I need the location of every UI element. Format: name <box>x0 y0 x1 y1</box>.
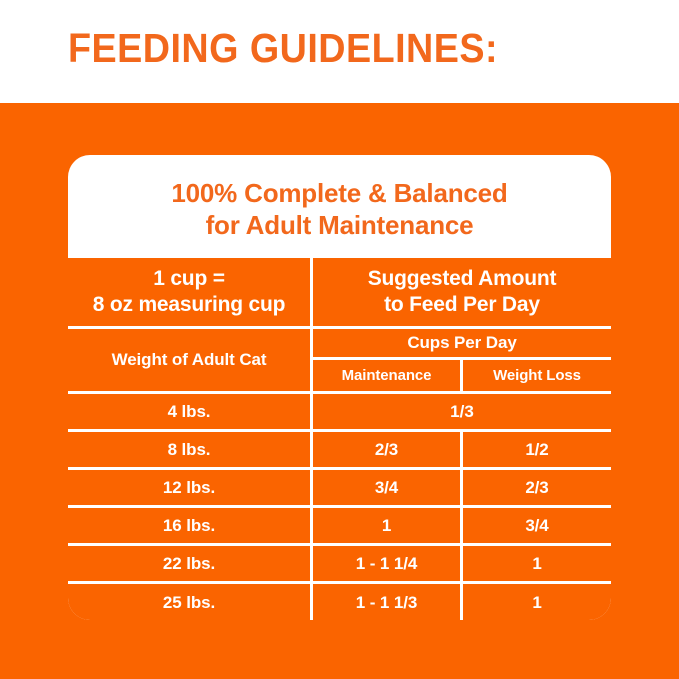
cell-weight-loss: 2/3 <box>463 470 611 508</box>
cell-weight-loss: 3/4 <box>463 508 611 546</box>
cell-maintenance: 3/4 <box>313 470 463 508</box>
cell-weight: 8 lbs. <box>68 432 313 470</box>
table-row: 25 lbs. 1 - 1 1/3 1 <box>68 584 611 620</box>
table-row: 16 lbs. 1 3/4 <box>68 508 611 546</box>
cell-weight: 22 lbs. <box>68 546 313 584</box>
cell-weight-loss: 1 <box>463 546 611 584</box>
page-title: FEEDING GUIDELINES: <box>68 24 498 72</box>
card-heading-line-2: for Adult Maintenance <box>86 209 593 241</box>
feeding-guidelines-page: FEEDING GUIDELINES: 100% Complete & Bala… <box>0 0 679 679</box>
feeding-card: 100% Complete & Balanced for Adult Maint… <box>68 155 611 620</box>
cup-definition-line-2: 8 oz measuring cup <box>74 292 304 318</box>
cell-maintenance: 1 - 1 1/4 <box>313 546 463 584</box>
cup-definition-cell: 1 cup = 8 oz measuring cup <box>68 258 313 329</box>
cell-weight: 16 lbs. <box>68 508 313 546</box>
feeding-table: 1 cup = 8 oz measuring cup Suggested Amo… <box>68 258 611 620</box>
card-heading: 100% Complete & Balanced for Adult Maint… <box>68 155 611 257</box>
table-row: 4 lbs. 1/3 <box>68 394 611 432</box>
suggested-amount-line-2: to Feed Per Day <box>319 292 605 318</box>
top-banner: FEEDING GUIDELINES: <box>0 0 679 103</box>
cup-definition-line-1: 1 cup = <box>74 266 304 292</box>
cell-weight: 12 lbs. <box>68 470 313 508</box>
cell-maintenance: 2/3 <box>313 432 463 470</box>
suggested-amount-cell: Suggested Amount to Feed Per Day <box>313 258 611 329</box>
cell-weight: 4 lbs. <box>68 394 313 432</box>
table-row-band: 1 cup = 8 oz measuring cup Suggested Amo… <box>68 258 611 329</box>
header-maintenance: Maintenance <box>313 360 463 394</box>
suggested-amount-line-1: Suggested Amount <box>319 266 605 292</box>
table-row: 22 lbs. 1 - 1 1/4 1 <box>68 546 611 584</box>
cell-maintenance: 1 <box>313 508 463 546</box>
card-heading-line-1: 100% Complete & Balanced <box>86 177 593 209</box>
cell-maintenance: 1 - 1 1/3 <box>313 584 463 620</box>
header-cups-per-day: Cups Per Day <box>313 329 611 360</box>
table-row: 8 lbs. 2/3 1/2 <box>68 432 611 470</box>
table-row: 12 lbs. 3/4 2/3 <box>68 470 611 508</box>
table-header-row: Weight of Adult Cat Cups Per Day <box>68 329 611 360</box>
cell-weight-loss: 1 <box>463 584 611 620</box>
cell-weight-loss: 1/2 <box>463 432 611 470</box>
cell-weight: 25 lbs. <box>68 584 313 620</box>
cell-amount-span: 1/3 <box>313 394 611 432</box>
header-weight-of-adult-cat: Weight of Adult Cat <box>68 329 313 394</box>
header-weight-loss: Weight Loss <box>463 360 611 394</box>
